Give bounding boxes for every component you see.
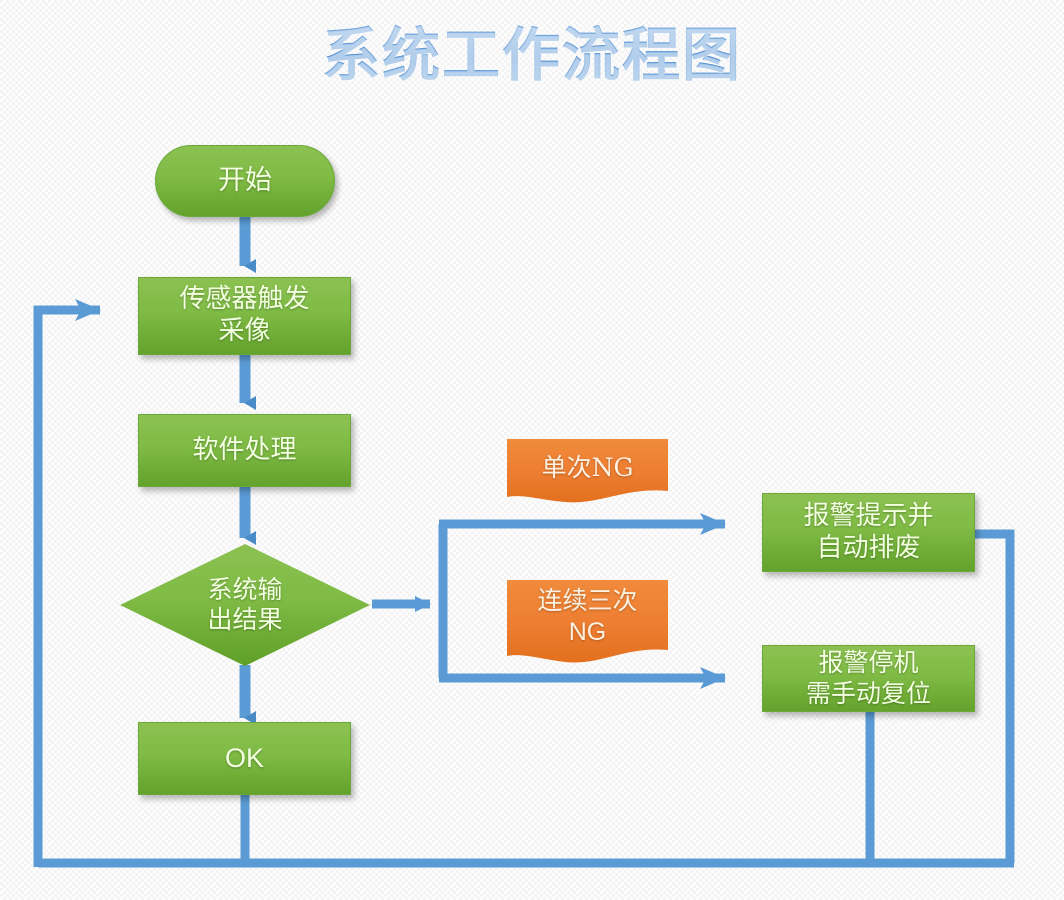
node-sensor-trigger-line2: 采像 — [218, 316, 270, 346]
node-alarm-stop[interactable]: 报警停机 需手动复位 — [762, 645, 975, 712]
node-software-process-label: 软件处理 — [192, 435, 296, 467]
page-title: 系统工作流程图 — [0, 8, 1064, 92]
branch-label-triple-ng-text: 连续三次 NG — [505, 578, 670, 655]
flowchart-canvas: 系统工作流程图 — [0, 0, 1064, 900]
node-alarm-reject[interactable]: 报警提示并 自动排废 — [762, 493, 975, 572]
node-software-process[interactable]: 软件处理 — [138, 414, 351, 487]
node-system-output-line2: 出结果 — [207, 605, 282, 634]
node-sensor-trigger-line1: 传感器触发 — [179, 284, 309, 314]
branch-label-single-ng-text: 单次NG — [505, 437, 670, 497]
node-alarm-stop-line1: 报警停机 — [818, 648, 918, 677]
node-alarm-reject-label: 报警提示并 自动排废 — [803, 501, 933, 564]
node-sensor-trigger-label: 传感器触发 采像 — [179, 284, 309, 347]
node-system-output-line1: 系统输 — [207, 575, 282, 604]
node-start[interactable]: 开始 — [155, 145, 335, 217]
node-system-output-label: 系统输 出结果 — [120, 544, 370, 666]
branch-label-single-ng[interactable]: 单次NG — [505, 437, 670, 509]
edge-alarm-reject-feedback — [975, 534, 1010, 863]
branch-label-triple-ng-line1: 连续三次 — [537, 586, 637, 615]
node-alarm-reject-line2: 自动排废 — [816, 533, 920, 563]
node-sensor-trigger[interactable]: 传感器触发 采像 — [138, 277, 351, 355]
node-alarm-stop-line2: 需手动复位 — [806, 679, 931, 708]
node-alarm-stop-label: 报警停机 需手动复位 — [806, 648, 931, 709]
node-ok[interactable]: OK — [138, 722, 351, 795]
node-ok-label: OK — [225, 742, 264, 775]
branch-label-triple-ng-line2: NG — [569, 618, 607, 646]
node-start-label: 开始 — [218, 165, 272, 198]
node-system-output[interactable]: 系统输 出结果 — [120, 544, 370, 666]
branch-label-triple-ng[interactable]: 连续三次 NG — [505, 578, 670, 670]
node-alarm-reject-line1: 报警提示并 — [803, 501, 933, 531]
